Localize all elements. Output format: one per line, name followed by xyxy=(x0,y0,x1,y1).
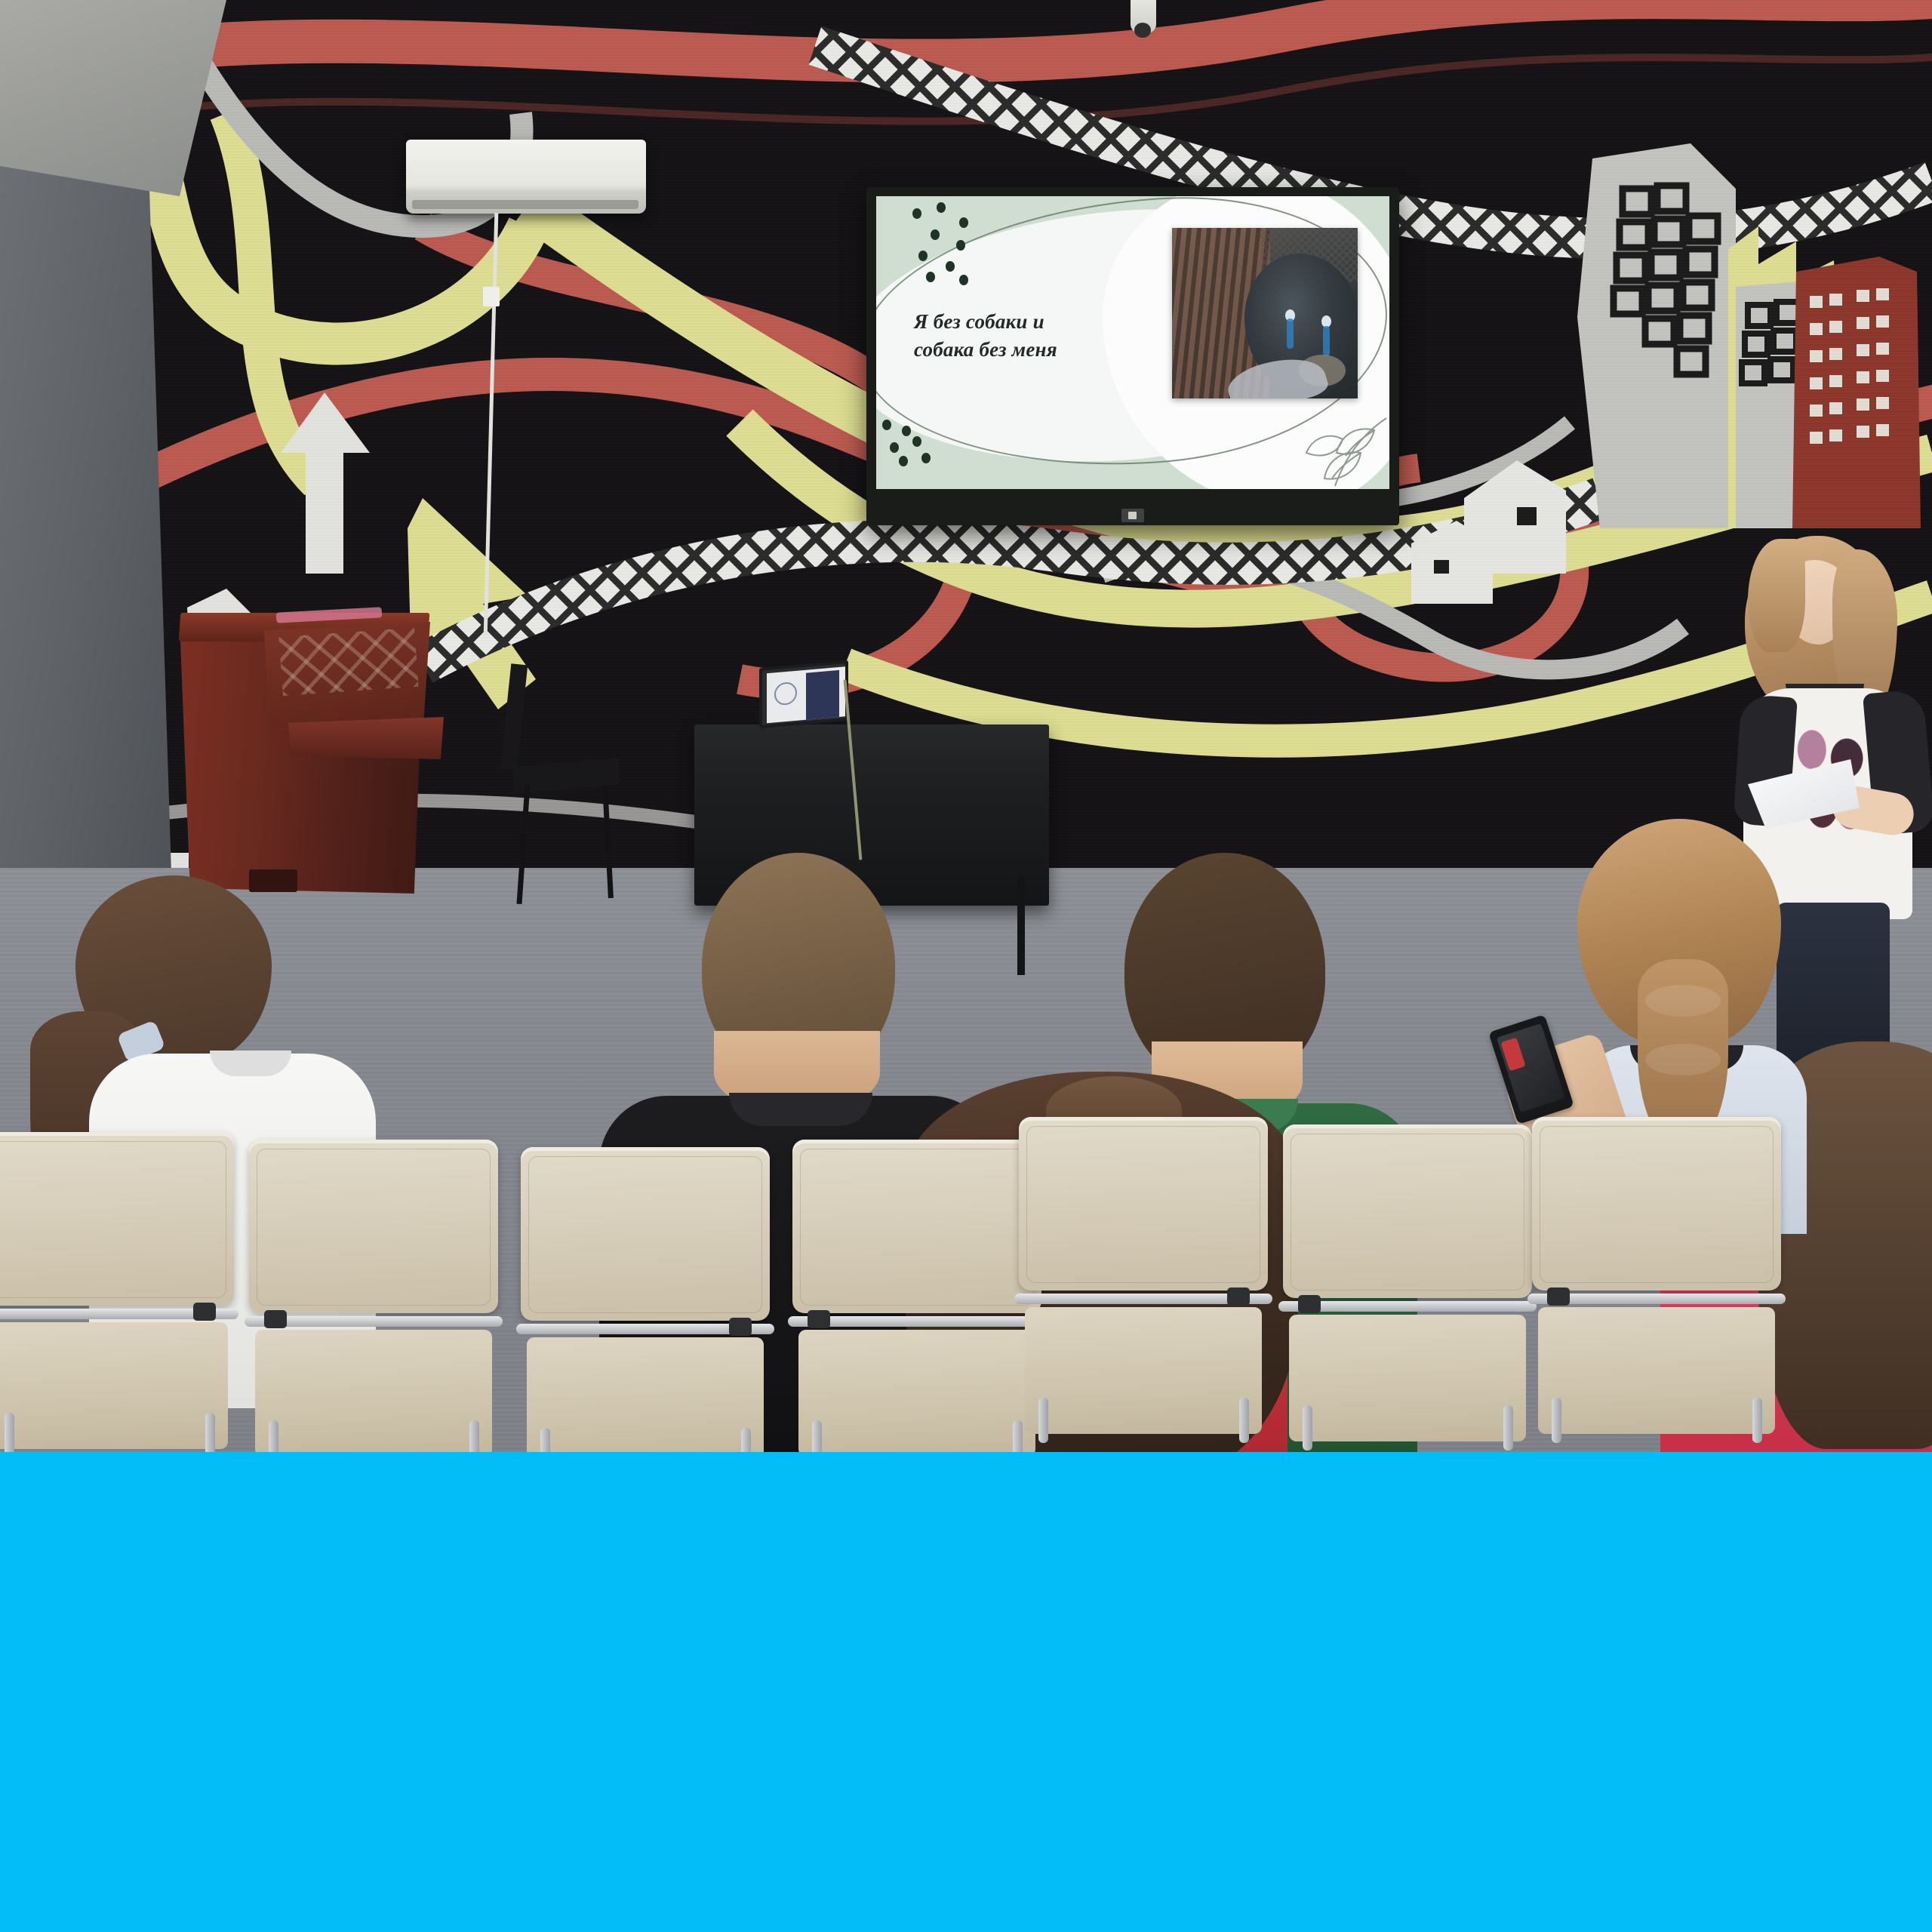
audience-chair xyxy=(1283,1124,1532,1441)
audience-chair xyxy=(521,1147,770,1452)
audience-chair xyxy=(1532,1117,1781,1434)
slide-text-line1: Я без собаки и xyxy=(914,308,1140,336)
audience-chair xyxy=(1019,1117,1268,1434)
news-poster: Я без собаки и собака без меня xyxy=(0,0,1932,1932)
screen-power-button[interactable] xyxy=(1121,509,1144,522)
projector-screen: Я без собаки и собака без меня xyxy=(866,187,1399,525)
slide-text-line2: собака без меня xyxy=(914,336,1140,364)
projector-screen-display: Я без собаки и собака без меня xyxy=(876,196,1389,489)
ac-cable-clip xyxy=(483,287,500,306)
event-photo: Я без собаки и собака без меня xyxy=(0,0,1932,1452)
slide-text: Я без собаки и собака без меня xyxy=(914,308,1140,365)
camera-lens-icon xyxy=(1134,23,1151,38)
audience-chair xyxy=(249,1140,498,1452)
audience-chair xyxy=(792,1140,1041,1452)
audience-chair xyxy=(0,1132,234,1449)
slide-leaf-decoration xyxy=(1296,414,1389,489)
laptop xyxy=(759,664,850,734)
news-banner: В Волгодонске стартовал второй этап масш… xyxy=(0,1452,1932,1932)
upright-piano xyxy=(175,604,474,898)
air-conditioner-icon xyxy=(406,140,646,214)
slide-dog-photo xyxy=(1172,228,1358,398)
